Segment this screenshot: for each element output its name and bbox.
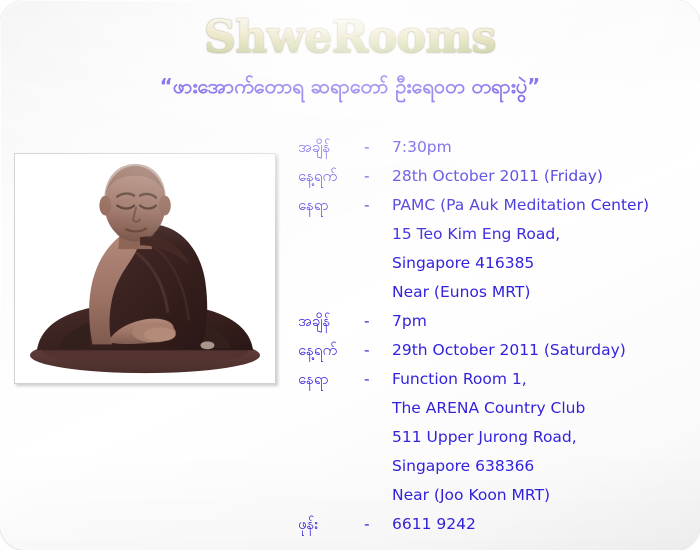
detail-value: 29th October 2011 (Saturday) [392,336,698,365]
detail-separator: - [364,133,392,162]
detail-value: 7:30pm [392,133,698,162]
detail-row: နေရာ-Function Room 1, [298,365,698,394]
detail-row: -The ARENA Country Club [298,394,698,423]
detail-label: နေရာ [298,365,364,394]
detail-value: 7pm [392,307,698,336]
detail-separator: - [364,510,392,539]
detail-row: -Near (Joo Koon MRT) [298,481,698,510]
shwerooms-logo: ShweRooms [204,12,496,64]
detail-value: 15 Teo Kim Eng Road, [392,220,698,249]
detail-value: 511 Upper Jurong Road, [392,423,698,452]
detail-row: အချိန်-7:30pm [298,133,698,162]
detail-label: နေ့ရက် [298,336,364,365]
flyer-page: ShweRooms “ဖားအောက်တောရ ဆရာတော် ဦးရေဝတ တ… [0,0,700,550]
monk-photo [15,154,275,383]
detail-label: နေရာ [298,191,364,220]
detail-row: အချိန်-7pm [298,307,698,336]
detail-separator: - [364,365,392,394]
detail-separator: - [364,307,392,336]
monk-photo-frame [14,153,276,384]
event-details-table: အချိန်-7:30pmနေ့ရက်-28th October 2011 (F… [298,133,698,539]
detail-value: Singapore 638366 [392,452,698,481]
detail-value: Singapore 416385 [392,249,698,278]
detail-label: နေ့ရက် [298,162,364,191]
detail-value: PAMC (Pa Auk Meditation Center) [392,191,698,220]
detail-row: -Singapore 638366 [298,452,698,481]
detail-separator: - [364,191,392,220]
detail-row: -15 Teo Kim Eng Road, [298,220,698,249]
detail-row: -Near (Eunos MRT) [298,278,698,307]
detail-value: The ARENA Country Club [392,394,698,423]
detail-row: ဖုန်း-6611 9242 [298,510,698,539]
detail-value: Near (Joo Koon MRT) [392,481,698,510]
detail-value: Function Room 1, [392,365,698,394]
detail-separator: - [364,336,392,365]
header: ShweRooms [0,12,700,64]
detail-row: နေ့ရက်-28th October 2011 (Friday) [298,162,698,191]
monk-illustration [15,154,275,383]
detail-row: နေရာ-PAMC (Pa Auk Meditation Center) [298,191,698,220]
detail-value: 6611 9242 [392,510,698,539]
detail-label: အချိန် [298,133,364,162]
detail-label: ဖုန်း [298,510,364,539]
event-headline-burmese: “ဖားအောက်တောရ ဆရာတော် ဦးရေဝတ တရားပွဲ” [0,72,700,100]
detail-row: -Singapore 416385 [298,249,698,278]
detail-separator: - [364,162,392,191]
detail-row: -511 Upper Jurong Road, [298,423,698,452]
detail-row: နေ့ရက်-29th October 2011 (Saturday) [298,336,698,365]
detail-value: Near (Eunos MRT) [392,278,698,307]
detail-value: 28th October 2011 (Friday) [392,162,698,191]
detail-label: အချိန် [298,307,364,336]
